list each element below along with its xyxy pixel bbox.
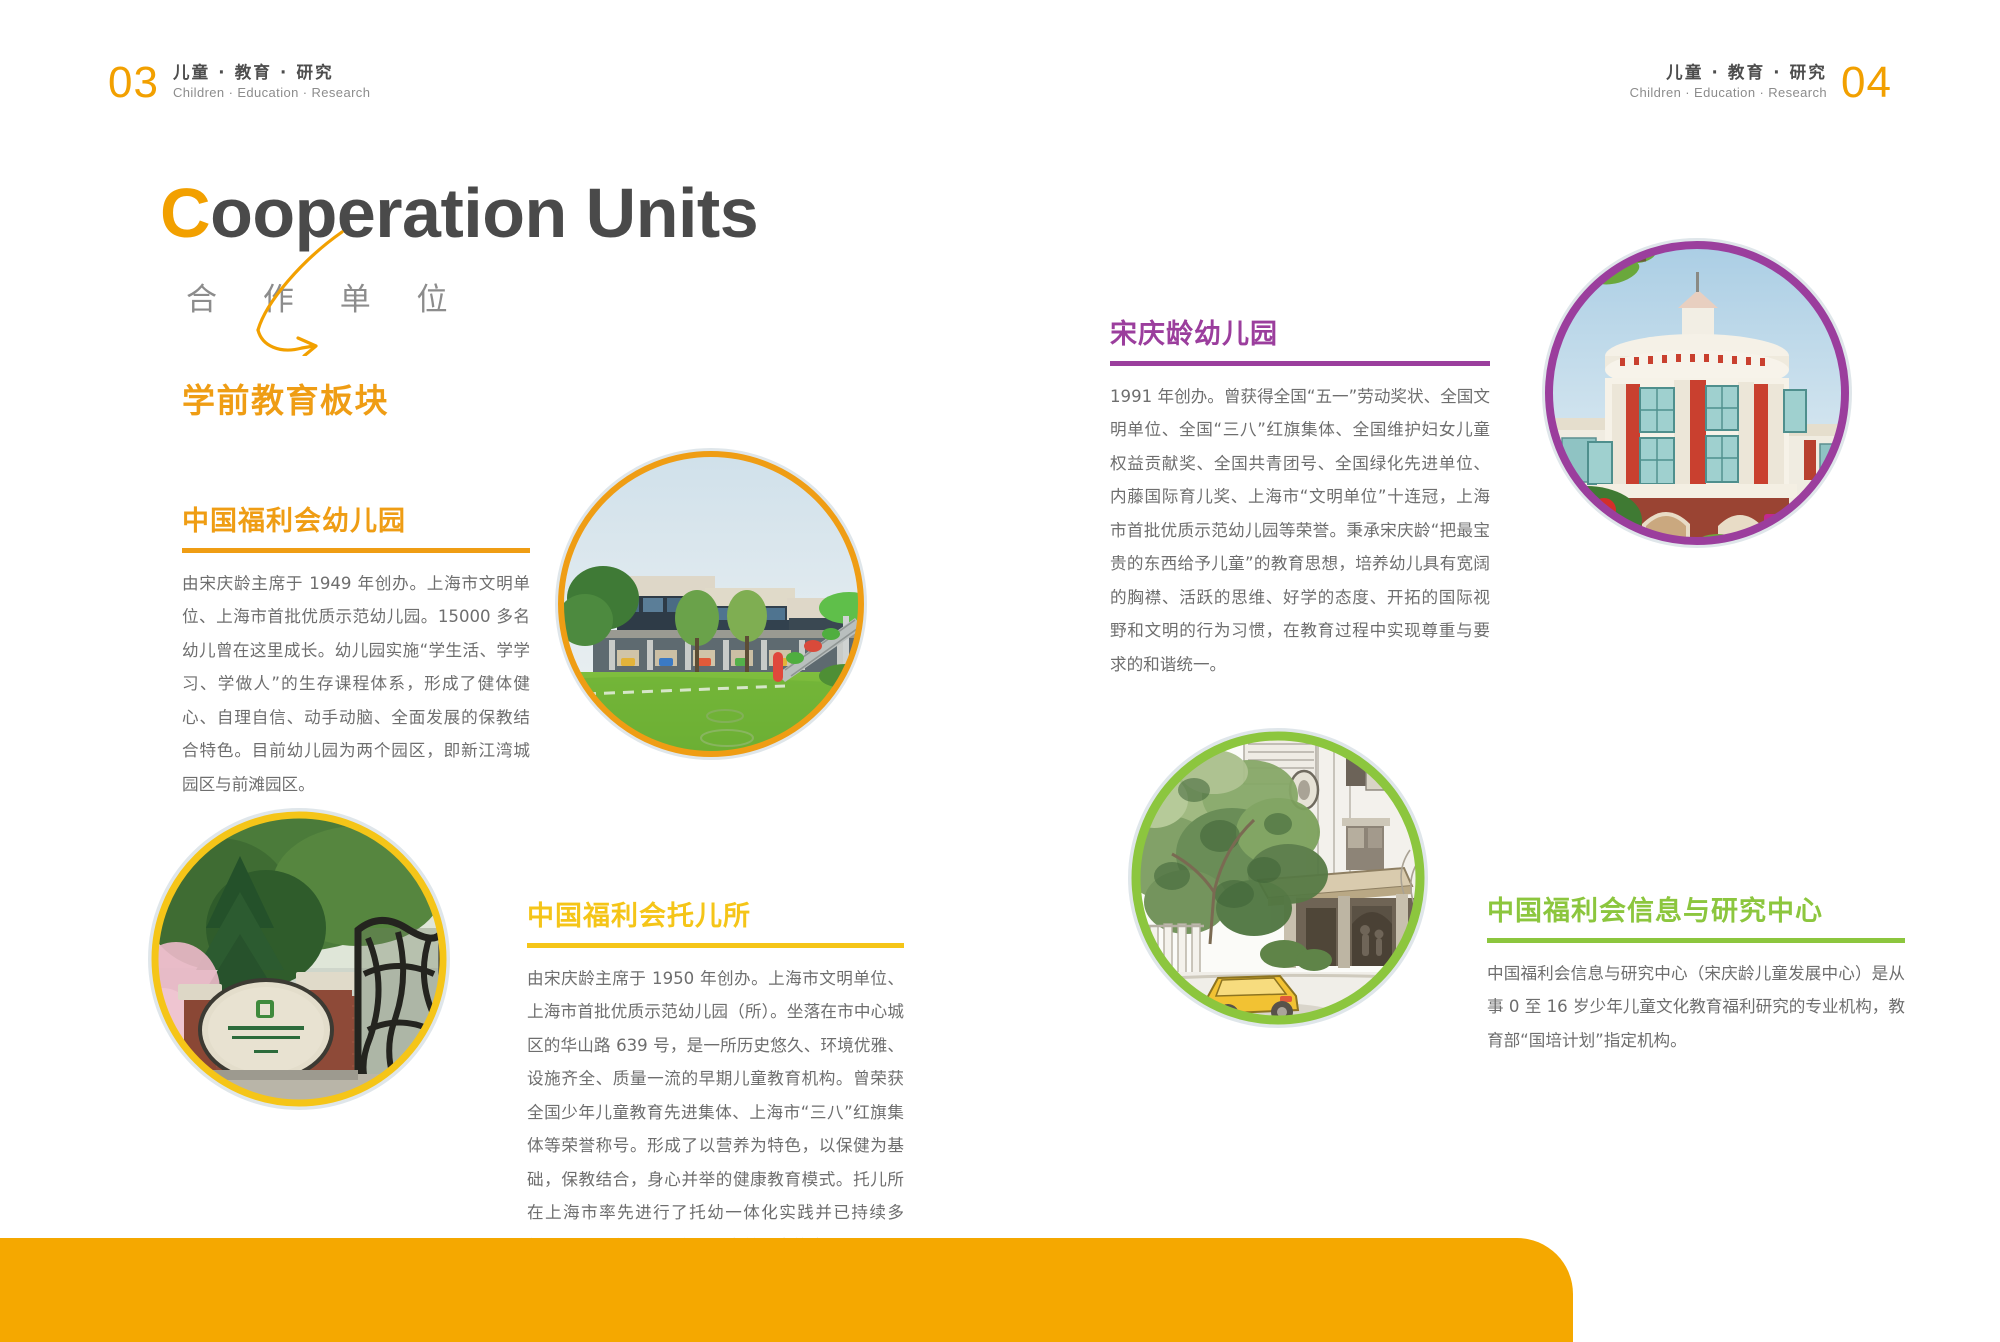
running-head-right-text: 儿童 · 教育 · 研究 Children · Education · Rese… (1630, 62, 1827, 104)
nursery-entrance-gate-image (148, 808, 450, 1110)
article-body: 由宋庆龄主席于 1949 年创办。上海市文明单位、上海市首批优质示范幼儿园。15… (182, 567, 530, 802)
photo-kindergarten-campus (555, 448, 867, 760)
running-head-left-cn: 儿童 · 教育 · 研究 (173, 62, 370, 84)
section-label-preschool: 学前教育板块 (182, 374, 389, 422)
article-title: 中国福利会信息与研究中心 (1487, 895, 1905, 929)
kindergarten-campus-image (555, 448, 867, 760)
bottom-color-bar (0, 1238, 1573, 1342)
watercolor-street-illustration-image (1128, 728, 1428, 1028)
masthead: Cooperation Units 合 作 单 位 (160, 178, 758, 319)
page-number-left: 03 (108, 62, 159, 104)
article-block-cwi-nursery: 中国福利会托儿所 由宋庆龄主席于 1950 年创办。上海市文明单位、上海市首批优… (527, 900, 904, 1263)
article-rule (1110, 361, 1490, 366)
article-block-sql-kindergarten: 宋庆龄幼儿园 1991 年创办。曾获得全国“五一”劳动奖状、全国文明单位、全国“… (1110, 318, 1490, 681)
running-head-left-text: 儿童 · 教育 · 研究 Children · Education · Rese… (173, 62, 370, 104)
article-rule (182, 548, 530, 553)
article-rule (1487, 938, 1905, 943)
curved-arrow-icon (250, 226, 370, 356)
article-block-cwi-kindergarten: 中国福利会幼儿园 由宋庆龄主席于 1949 年创办。上海市文明单位、上海市首批优… (182, 505, 530, 801)
photo-sql-building (1542, 238, 1852, 548)
article-title: 宋庆龄幼儿园 (1110, 318, 1490, 352)
photo-research-center (1128, 728, 1428, 1028)
running-head-left: 03 儿童 · 教育 · 研究 Children · Education · R… (108, 62, 370, 104)
article-title: 中国福利会幼儿园 (182, 505, 530, 539)
rotunda-building-image (1542, 238, 1852, 548)
article-body: 中国福利会信息与研究中心（宋庆龄儿童发展中心）是从事 0 至 16 岁少年儿童文… (1487, 957, 1905, 1058)
article-title: 中国福利会托儿所 (527, 900, 904, 934)
running-head-right-cn: 儿童 · 教育 · 研究 (1666, 62, 1827, 84)
running-head-left-en: Children · Education · Research (173, 84, 370, 102)
brochure-page: 03 儿童 · 教育 · 研究 Children · Education · R… (0, 0, 2000, 1342)
running-head-right-en: Children · Education · Research (1630, 84, 1827, 102)
running-head-right: 儿童 · 教育 · 研究 Children · Education · Rese… (1630, 62, 1892, 104)
article-body: 1991 年创办。曾获得全国“五一”劳动奖状、全国文明单位、全国“三八”红旗集体… (1110, 380, 1490, 682)
article-block-cwi-research: 中国福利会信息与研究中心 中国福利会信息与研究中心（宋庆龄儿童发展中心）是从事 … (1487, 895, 1905, 1057)
page-number-right: 04 (1841, 62, 1892, 104)
photo-nursery-gate (148, 808, 450, 1110)
article-rule (527, 943, 904, 948)
page-title-initial: C (160, 174, 210, 252)
article-body: 由宋庆龄主席于 1950 年创办。上海市文明单位、上海市首批优质示范幼儿园（所）… (527, 962, 904, 1264)
